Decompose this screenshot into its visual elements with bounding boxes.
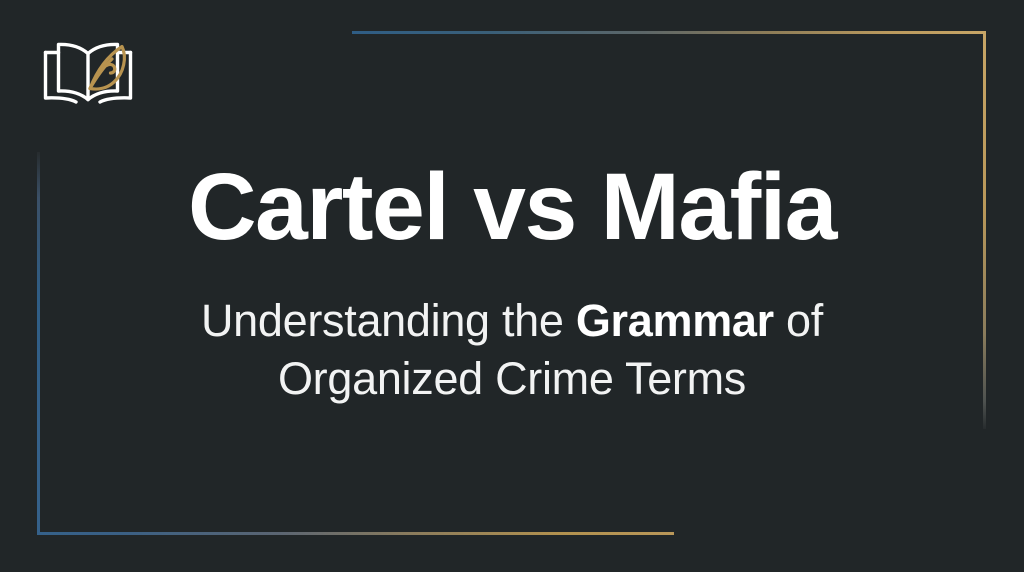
title-slide: Cartel vs Mafia Understanding the Gramma…	[0, 0, 1024, 572]
page-title: Cartel vs Mafia	[0, 155, 1024, 259]
subtitle-line-1: Understanding the Grammar of	[0, 292, 1024, 350]
subtitle-line-2: Organized Crime Terms	[0, 350, 1024, 408]
subtitle-prefix: Understanding the	[201, 295, 576, 346]
subtitle-suffix: of	[774, 295, 823, 346]
page-subtitle: Understanding the Grammar of Organized C…	[0, 292, 1024, 408]
title-block: Cartel vs Mafia Understanding the Gramma…	[0, 0, 1024, 572]
subtitle-emphasis: Grammar	[576, 295, 774, 346]
